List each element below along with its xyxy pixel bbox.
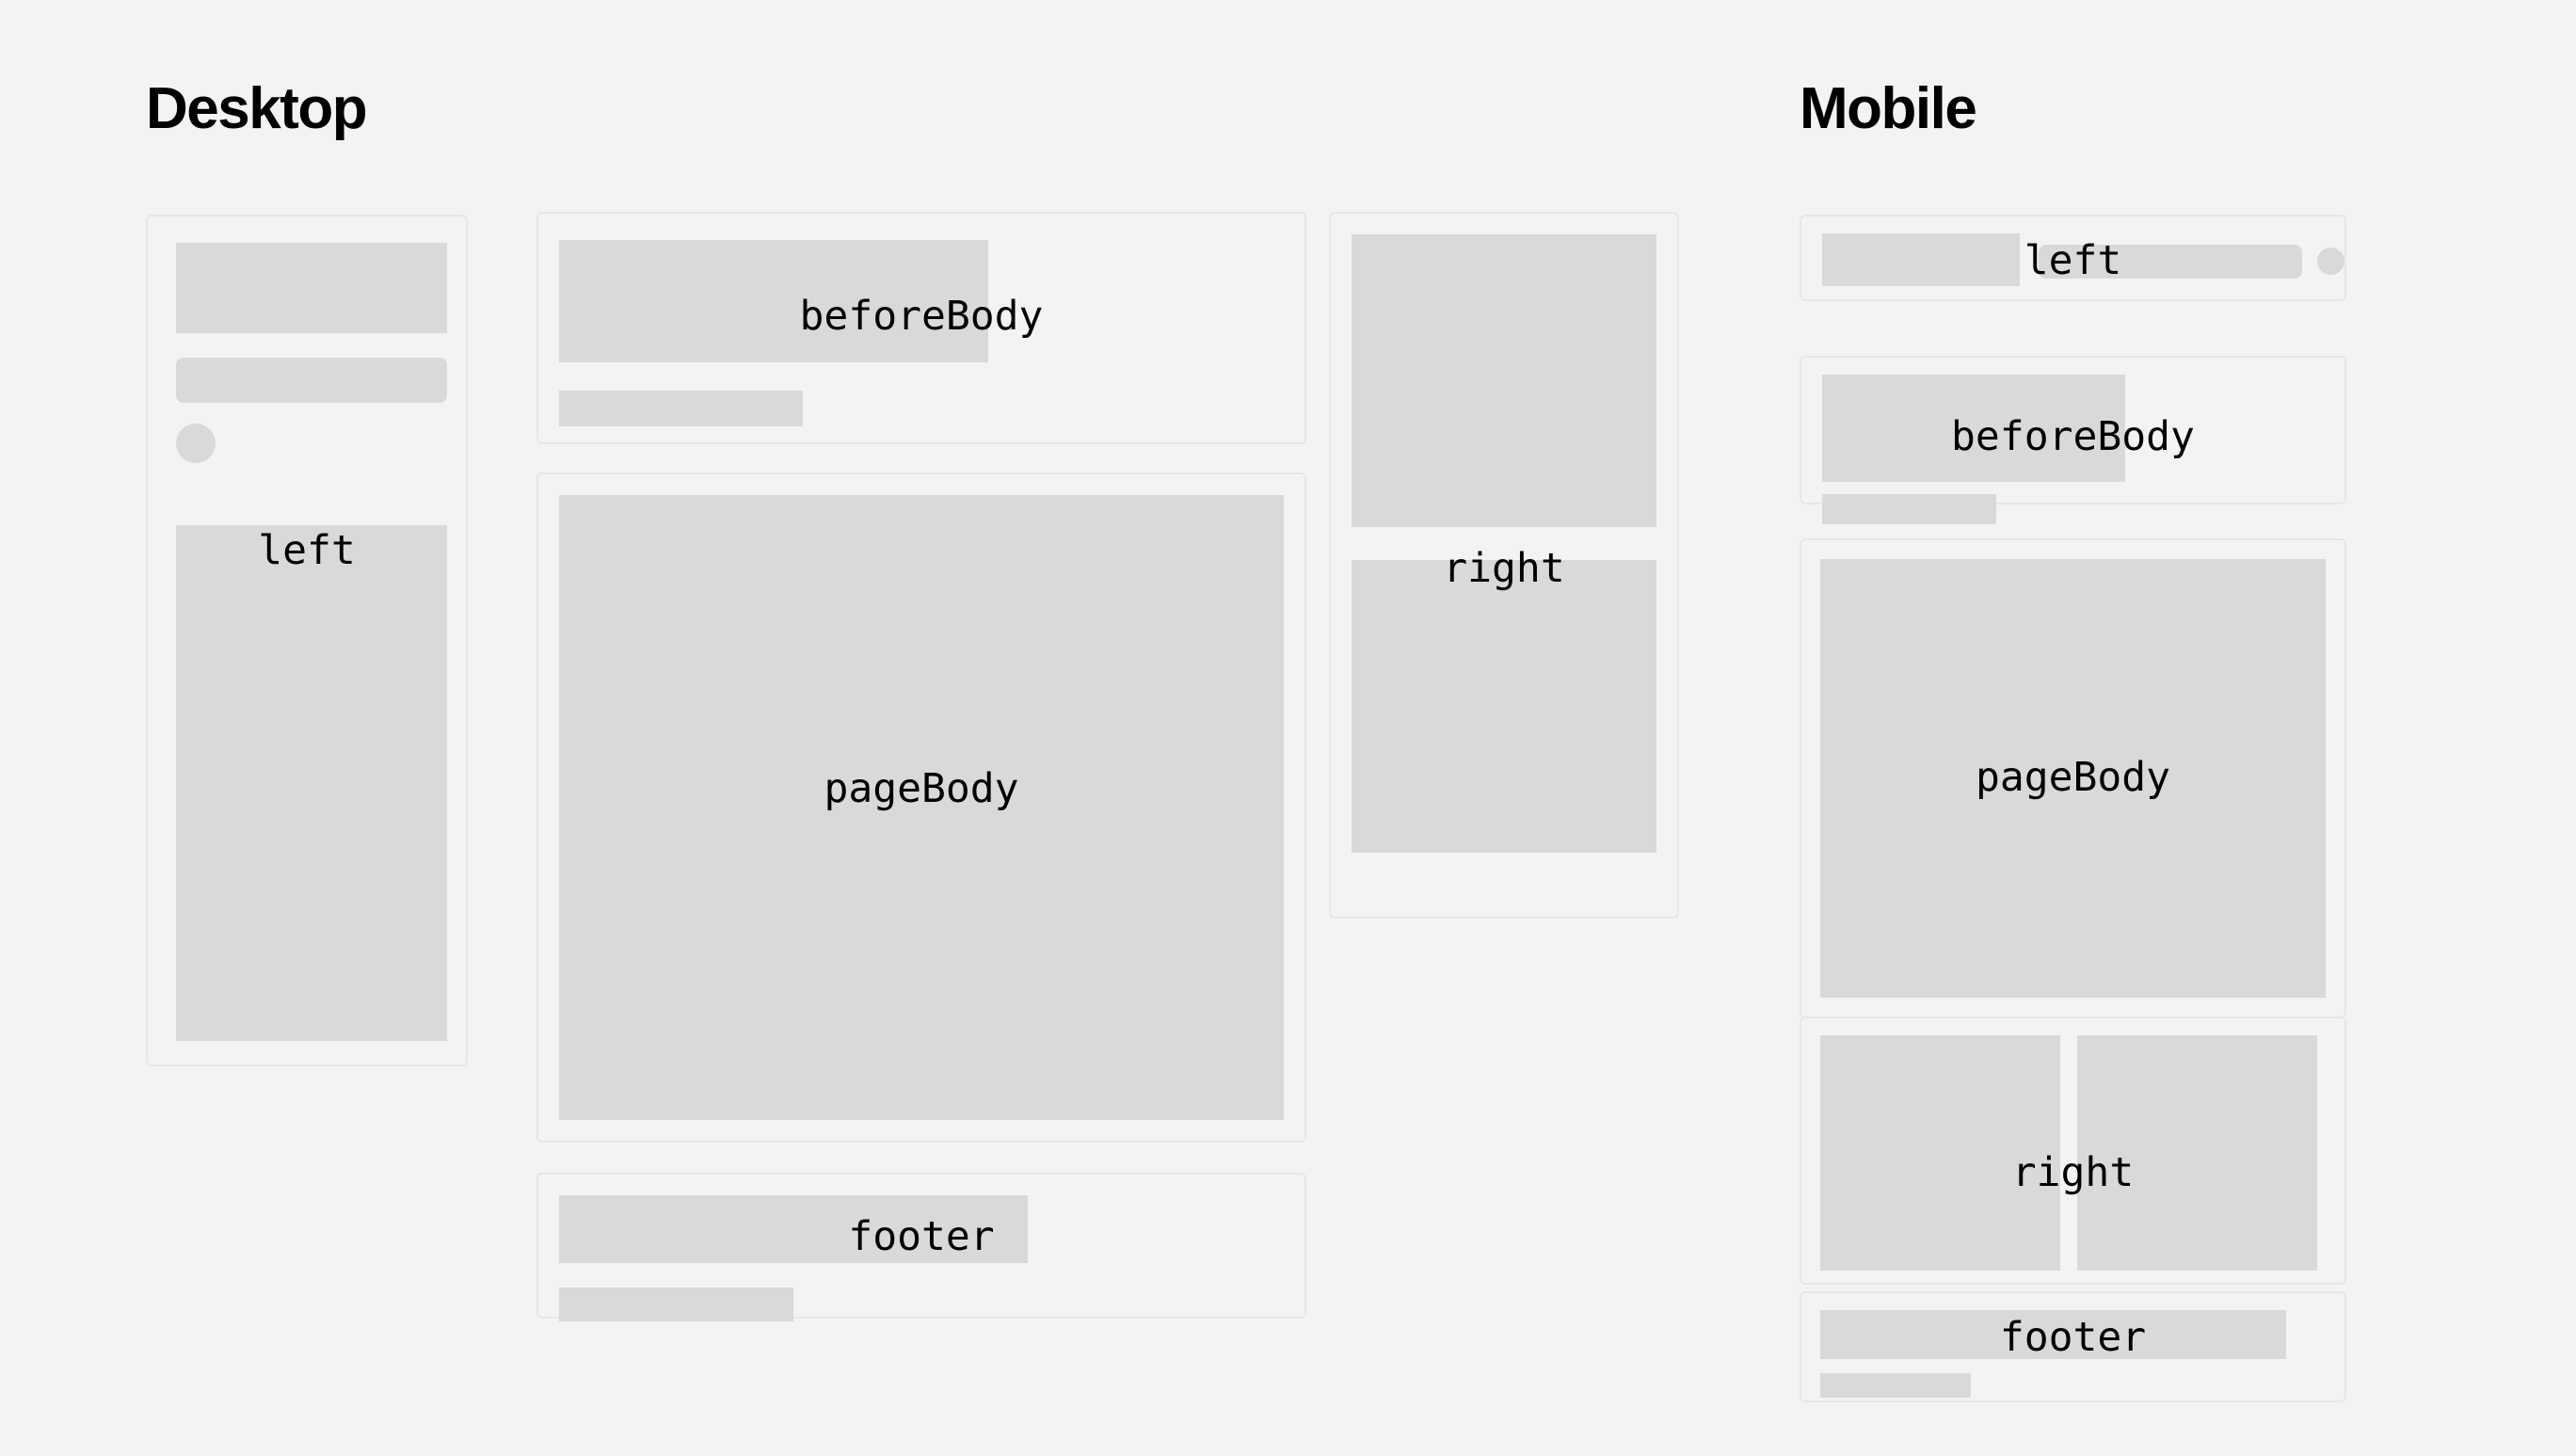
wireframe-stage: Desktop left beforeBody pageBody footer …: [0, 0, 2576, 1456]
skeleton-block: [1822, 233, 2020, 286]
skeleton-bar: [1822, 494, 1996, 524]
mobile-pagebody-panel[interactable]: [1800, 538, 2346, 1018]
desktop-footer-panel[interactable]: [536, 1173, 1306, 1319]
skeleton-bar: [559, 391, 803, 426]
skeleton-bar: [1820, 1373, 1971, 1398]
skeleton-bar: [176, 358, 447, 403]
skeleton-block: [176, 525, 447, 1041]
desktop-pagebody-panel[interactable]: [536, 472, 1306, 1143]
skeleton-avatar-circle: [176, 424, 216, 463]
desktop-beforebody-panel[interactable]: [536, 212, 1306, 444]
desktop-left-panel[interactable]: [146, 215, 468, 1066]
skeleton-block: [559, 1195, 1028, 1263]
skeleton-block: [1352, 234, 1656, 527]
skeleton-block: [559, 495, 1284, 1120]
skeleton-avatar-circle: [2317, 248, 2344, 275]
mobile-beforebody-panel[interactable]: [1800, 356, 2346, 504]
skeleton-block: [1820, 1310, 2286, 1359]
skeleton-bar: [2039, 245, 2302, 279]
mobile-right-panel[interactable]: [1800, 1016, 2346, 1285]
mobile-footer-panel[interactable]: [1800, 1291, 2346, 1402]
desktop-right-panel[interactable]: [1329, 212, 1679, 919]
skeleton-block: [2077, 1035, 2317, 1271]
skeleton-bar: [559, 1288, 793, 1321]
desktop-section-title: Desktop: [146, 80, 366, 138]
mobile-left-panel[interactable]: [1800, 215, 2346, 301]
skeleton-block: [559, 240, 988, 362]
skeleton-block: [1352, 560, 1656, 853]
mobile-section-title: Mobile: [1800, 80, 1976, 138]
skeleton-block: [1822, 375, 2125, 482]
skeleton-block: [1820, 1035, 2060, 1271]
skeleton-block: [1820, 559, 2326, 998]
skeleton-block: [176, 243, 447, 333]
